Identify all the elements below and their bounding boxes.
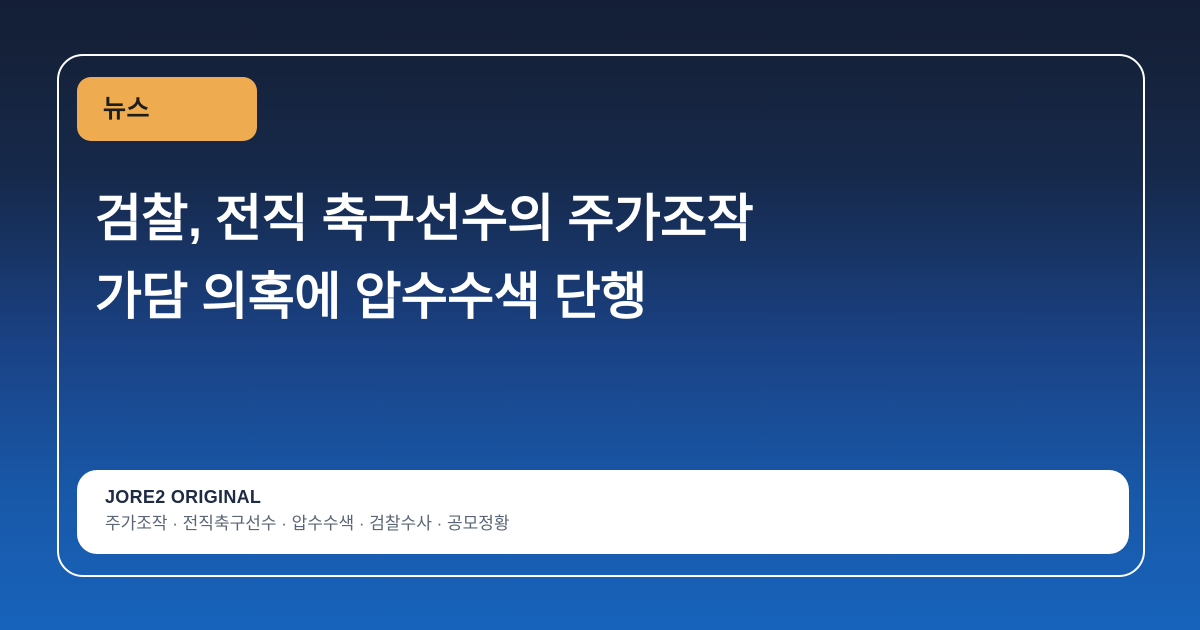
category-badge[interactable]: 뉴스 <box>77 77 257 141</box>
category-badge-label: 뉴스 <box>103 97 150 122</box>
footer-card: JORE2 ORIGINAL 주가조작 · 전직축구선수 · 압수수색 · 검찰… <box>77 470 1129 554</box>
headline-line-1: 검찰, 전직 축구선수의 주가조작 <box>95 180 1095 258</box>
headline-line-2: 가담 의혹에 압수수색 단행 <box>95 258 1095 336</box>
poster-frame-inner: 뉴스 검찰, 전직 축구선수의 주가조작 가담 의혹에 압수수색 단행 JORE… <box>59 56 1143 575</box>
news-card-poster: 뉴스 검찰, 전직 축구선수의 주가조작 가담 의혹에 압수수색 단행 JORE… <box>0 0 1200 630</box>
tag-list: 주가조작 · 전직축구선수 · 압수수색 · 검찰수사 · 공모정황 <box>105 510 1101 538</box>
headline: 검찰, 전직 축구선수의 주가조작 가담 의혹에 압수수색 단행 <box>95 180 1095 336</box>
brand-label: JORE2 ORIGINAL <box>105 484 1101 510</box>
poster-frame: 뉴스 검찰, 전직 축구선수의 주가조작 가담 의혹에 압수수색 단행 JORE… <box>57 54 1145 577</box>
